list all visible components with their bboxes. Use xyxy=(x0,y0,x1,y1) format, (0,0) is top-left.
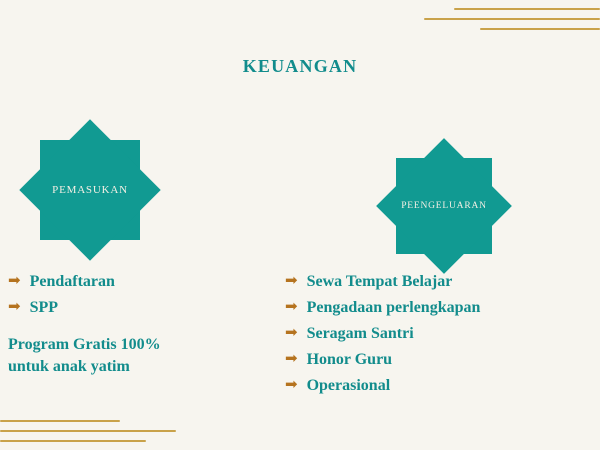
arrow-icon: ➡ xyxy=(285,300,298,315)
list-item: ➡ Pengadaan perlengkapan xyxy=(285,298,585,318)
list-item: ➡ Sewa Tempat Belajar xyxy=(285,272,585,292)
list-item-label: SPP xyxy=(30,298,58,318)
list-pengeluaran: ➡ Sewa Tempat Belajar ➡ Pengadaan perlen… xyxy=(285,272,585,402)
note-line-2: untuk anak yatim xyxy=(8,356,248,378)
list-item-label: Honor Guru xyxy=(307,350,393,370)
badge-pengeluaran: PEENGELUARAN xyxy=(382,144,506,268)
note-pemasukan: Program Gratis 100% untuk anak yatim xyxy=(8,334,248,377)
slide: KEUANGAN PEMASUKAN PEENGELUARAN ➡ Pendaf… xyxy=(0,0,600,450)
arrow-icon: ➡ xyxy=(285,378,298,393)
badge-pemasukan: PEMASUKAN xyxy=(28,128,152,252)
arrow-icon: ➡ xyxy=(285,352,298,367)
list-item-label: Seragam Santri xyxy=(307,324,414,344)
list-item: ➡ Seragam Santri xyxy=(285,324,585,344)
arrow-icon: ➡ xyxy=(8,274,21,289)
list-item-label: Sewa Tempat Belajar xyxy=(307,272,453,292)
badge-pengeluaran-label: PEENGELUARAN xyxy=(382,201,506,211)
note-line-1: Program Gratis 100% xyxy=(8,334,248,356)
list-pemasukan: ➡ Pendaftaran ➡ SPP Program Gratis 100% … xyxy=(8,272,248,377)
corner-decoration-top-right xyxy=(410,0,600,44)
list-item: ➡ Honor Guru xyxy=(285,350,585,370)
badge-pemasukan-label: PEMASUKAN xyxy=(28,184,152,196)
corner-decoration-bottom-left xyxy=(0,406,190,450)
list-item: ➡ Pendaftaran xyxy=(8,272,248,292)
arrow-icon: ➡ xyxy=(8,300,21,315)
list-item-label: Pendaftaran xyxy=(30,272,115,292)
arrow-icon: ➡ xyxy=(285,326,298,341)
slide-title: KEUANGAN xyxy=(0,56,600,77)
arrow-icon: ➡ xyxy=(285,274,298,289)
list-item-label: Operasional xyxy=(307,376,391,396)
list-item-label: Pengadaan perlengkapan xyxy=(307,298,481,318)
list-item: ➡ Operasional xyxy=(285,376,585,396)
list-item: ➡ SPP xyxy=(8,298,248,318)
